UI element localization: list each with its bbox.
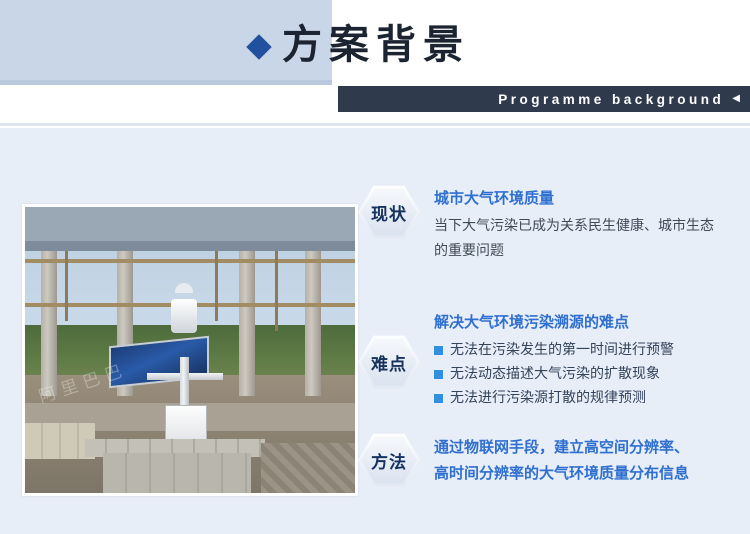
photo-column	[239, 251, 255, 396]
hex-label: 现状	[358, 184, 420, 240]
slide-page: 方案背景 Programme background ◀	[0, 0, 750, 534]
square-bullet-icon	[434, 394, 443, 403]
slide-header: 方案背景 Programme background ◀	[0, 0, 750, 128]
content-block-difficulty: 难点 解决大气环境污染溯源的难点 无法在污染发生的第一时间进行预警 无法动态描述…	[358, 308, 730, 410]
content-block-status: 现状 城市大气环境质量 当下大气污染已成为关系民生健康、城市生态 的重要问题	[358, 184, 730, 264]
photo-concrete-slab	[25, 207, 355, 241]
subtitle-text: Programme background	[498, 92, 724, 107]
hex-label: 方法	[358, 432, 420, 488]
photo-frame: 阿里巴巴	[22, 204, 358, 496]
hex-badge: 方法	[358, 432, 420, 488]
bullet-text: 无法动态描述大气污染的扩散现象	[450, 362, 660, 386]
bullet-item: 无法动态描述大气污染的扩散现象	[434, 362, 674, 386]
block-heading: 解决大气环境污染溯源的难点	[434, 310, 674, 334]
photo-slab-edge	[25, 241, 355, 251]
square-bullet-icon	[434, 346, 443, 355]
square-bullet-icon	[434, 370, 443, 379]
photo-sensor-box	[171, 299, 197, 333]
site-photo: 阿里巴巴	[25, 207, 355, 493]
subtitle-bar: Programme background ◀	[338, 86, 750, 112]
header-divider	[0, 123, 750, 126]
title-row: 方案背景	[250, 22, 470, 68]
hex-badge: 难点	[358, 334, 420, 390]
block-line: 当下大气污染已成为关系民生健康、城市生态	[434, 214, 714, 239]
photo-scaffold-post	[65, 251, 68, 321]
block-line: 通过物联网手段，建立高空间分辨率、	[434, 434, 689, 460]
diamond-icon	[246, 34, 271, 59]
bullet-text: 无法进行污染源打散的规律预测	[450, 386, 646, 410]
photo-scaffold-post	[215, 251, 218, 321]
photo-scaffold-post	[275, 251, 278, 331]
hex-badge: 现状	[358, 184, 420, 240]
slide-body: 阿里巴巴 现状 城市大气环境质量 当下大气污染已成为关系民生健康、城市生态 的重…	[0, 128, 750, 534]
photo-column	[41, 251, 57, 396]
block-text: 城市大气环境质量 当下大气污染已成为关系民生健康、城市生态 的重要问题	[434, 184, 714, 264]
photo-rubble	[261, 443, 355, 493]
bullet-item: 无法进行污染源打散的规律预测	[434, 386, 674, 410]
bullet-text: 无法在污染发生的第一时间进行预警	[450, 338, 674, 362]
block-line: 高时间分辨率的大气环境质量分布信息	[434, 460, 689, 486]
content-block-method: 方法 通过物联网手段，建立高空间分辨率、 高时间分辨率的大气环境质量分布信息	[358, 428, 730, 488]
hex-label: 难点	[358, 334, 420, 390]
photo-bricks	[103, 453, 251, 493]
page-title: 方案背景	[282, 22, 470, 68]
photo-scaffold-beam	[25, 259, 355, 263]
block-line: 的重要问题	[434, 239, 714, 264]
arrow-left-icon: ◀	[732, 86, 740, 112]
bullet-item: 无法在污染发生的第一时间进行预警	[434, 338, 674, 362]
photo-column	[305, 251, 321, 396]
block-heading: 城市大气环境质量	[434, 186, 714, 210]
block-text: 通过物联网手段，建立高空间分辨率、 高时间分辨率的大气环境质量分布信息	[434, 428, 689, 486]
block-text: 解决大气环境污染溯源的难点 无法在污染发生的第一时间进行预警 无法动态描述大气污…	[434, 308, 674, 410]
